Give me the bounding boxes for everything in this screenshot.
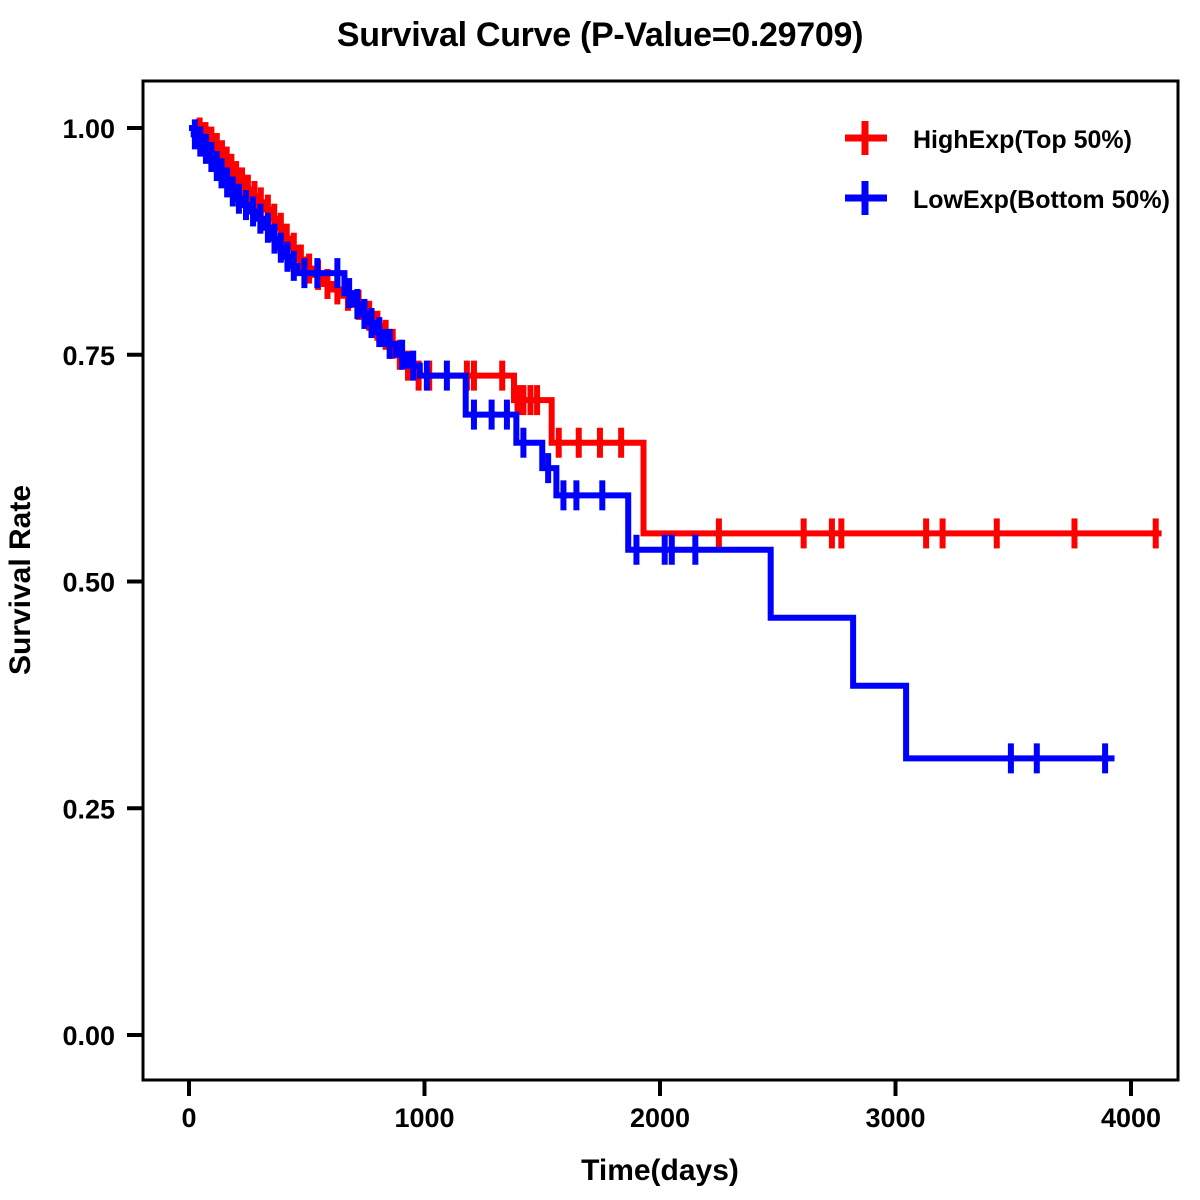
y-tick-label: 1.00 [62, 114, 115, 144]
y-tick-label: 0.00 [62, 1021, 115, 1051]
x-tick-label: 2000 [630, 1103, 690, 1133]
chart-page: Survival Curve (P-Value=0.29709) 0100020… [0, 0, 1200, 1200]
x-axis-title: Time(days) [581, 1154, 739, 1187]
y-tick-label: 0.50 [62, 568, 115, 598]
y-tick-label: 0.25 [62, 794, 115, 824]
legend-label[interactable]: HighExp(Top 50%) [913, 126, 1132, 154]
y-axis-ticks: 0.000.250.500.751.00 [62, 114, 143, 1051]
plot-frame [143, 81, 1178, 1080]
legend-label[interactable]: LowExp(Bottom 50%) [913, 186, 1170, 214]
x-tick-label: 3000 [865, 1103, 925, 1133]
y-axis-title: Survival Rate [4, 485, 37, 675]
x-tick-label: 4000 [1101, 1103, 1161, 1133]
survival-curve-plot: 01000200030004000 0.000.250.500.751.00 H… [0, 0, 1200, 1200]
x-tick-label: 0 [181, 1103, 196, 1133]
x-axis-ticks: 01000200030004000 [181, 1080, 1161, 1133]
y-tick-label: 0.75 [62, 341, 115, 371]
x-tick-label: 1000 [394, 1103, 454, 1133]
